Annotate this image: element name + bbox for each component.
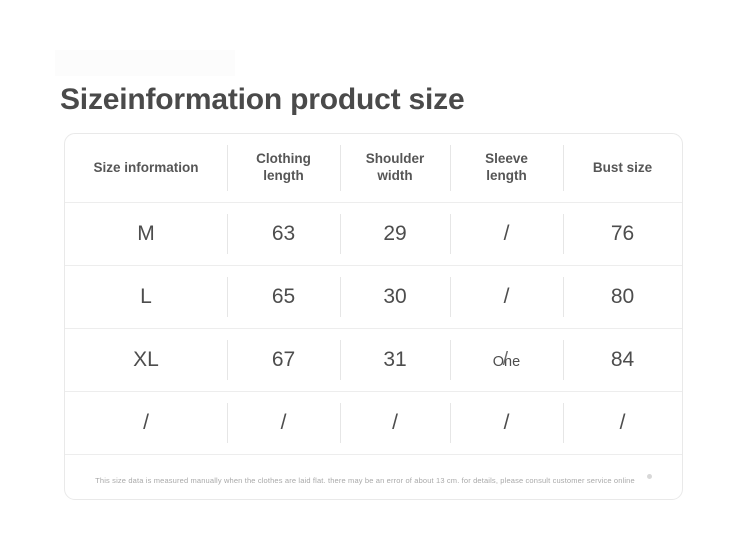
table-row: / / / / /: [65, 392, 682, 455]
table-row: L 65 30 / 80: [65, 266, 682, 329]
cell-bust-size: 76: [563, 203, 682, 266]
cell-sleeve-length-text: One: [493, 354, 520, 370]
cell-sleeve-length-overstruck: One /: [493, 354, 520, 370]
cell-size: L: [65, 266, 227, 329]
cell-bust-size: /: [563, 392, 682, 455]
column-header-line2: length: [227, 168, 340, 185]
column-header-line2: length: [450, 168, 563, 185]
cell-shoulder-width: 31: [340, 329, 450, 392]
footnote-text: This size data is measured manually when…: [95, 476, 635, 485]
cell-bust-size: 84: [563, 329, 682, 392]
cell-size: M: [65, 203, 227, 266]
table-footer-row: This size data is measured manually when…: [65, 455, 682, 500]
size-information-card: Size information Clothing length Shoulde…: [64, 133, 683, 500]
footnote-dot-icon: [647, 474, 652, 479]
footnote-cell: This size data is measured manually when…: [65, 455, 682, 500]
column-header-line1: Size information: [93, 160, 198, 175]
cell-sleeve-length: /: [450, 203, 563, 266]
cell-clothing-length: /: [227, 392, 340, 455]
column-header-clothing-length: Clothing length: [227, 134, 340, 203]
column-header-sleeve-length: Sleeve length: [450, 134, 563, 203]
table-body: M 63 29 / 76 L 65 30 / 80 XL 67 31: [65, 203, 682, 455]
cell-sleeve-length: /: [450, 392, 563, 455]
column-header-bust-size: Bust size: [563, 134, 682, 203]
cell-sleeve-length: One /: [450, 329, 563, 392]
table-footer: This size data is measured manually when…: [65, 455, 682, 500]
cell-clothing-length: 65: [227, 266, 340, 329]
cell-size: XL: [65, 329, 227, 392]
cell-shoulder-width: 29: [340, 203, 450, 266]
column-header-size-information: Size information: [65, 134, 227, 203]
cell-clothing-length: 67: [227, 329, 340, 392]
column-header-line1: Shoulder: [366, 151, 425, 166]
table-row: M 63 29 / 76: [65, 203, 682, 266]
column-header-line1: Sleeve: [485, 151, 528, 166]
size-chart-page: Sizeinformation product size Size inform…: [0, 0, 750, 557]
cell-shoulder-width: /: [340, 392, 450, 455]
size-information-table: Size information Clothing length Shoulde…: [65, 134, 682, 499]
cell-clothing-length: 63: [227, 203, 340, 266]
cell-bust-size: 80: [563, 266, 682, 329]
table-header: Size information Clothing length Shoulde…: [65, 134, 682, 203]
column-header-shoulder-width: Shoulder width: [340, 134, 450, 203]
table-header-row: Size information Clothing length Shoulde…: [65, 134, 682, 203]
cell-shoulder-width: 30: [340, 266, 450, 329]
column-header-line1: Bust size: [593, 160, 652, 175]
title-background-wash: [55, 50, 235, 76]
cell-size: /: [65, 392, 227, 455]
page-title: Sizeinformation product size: [60, 83, 464, 117]
column-header-line2: width: [340, 168, 450, 185]
column-header-line1: Clothing: [256, 151, 311, 166]
table-row: XL 67 31 One / 84: [65, 329, 682, 392]
cell-sleeve-length: /: [450, 266, 563, 329]
